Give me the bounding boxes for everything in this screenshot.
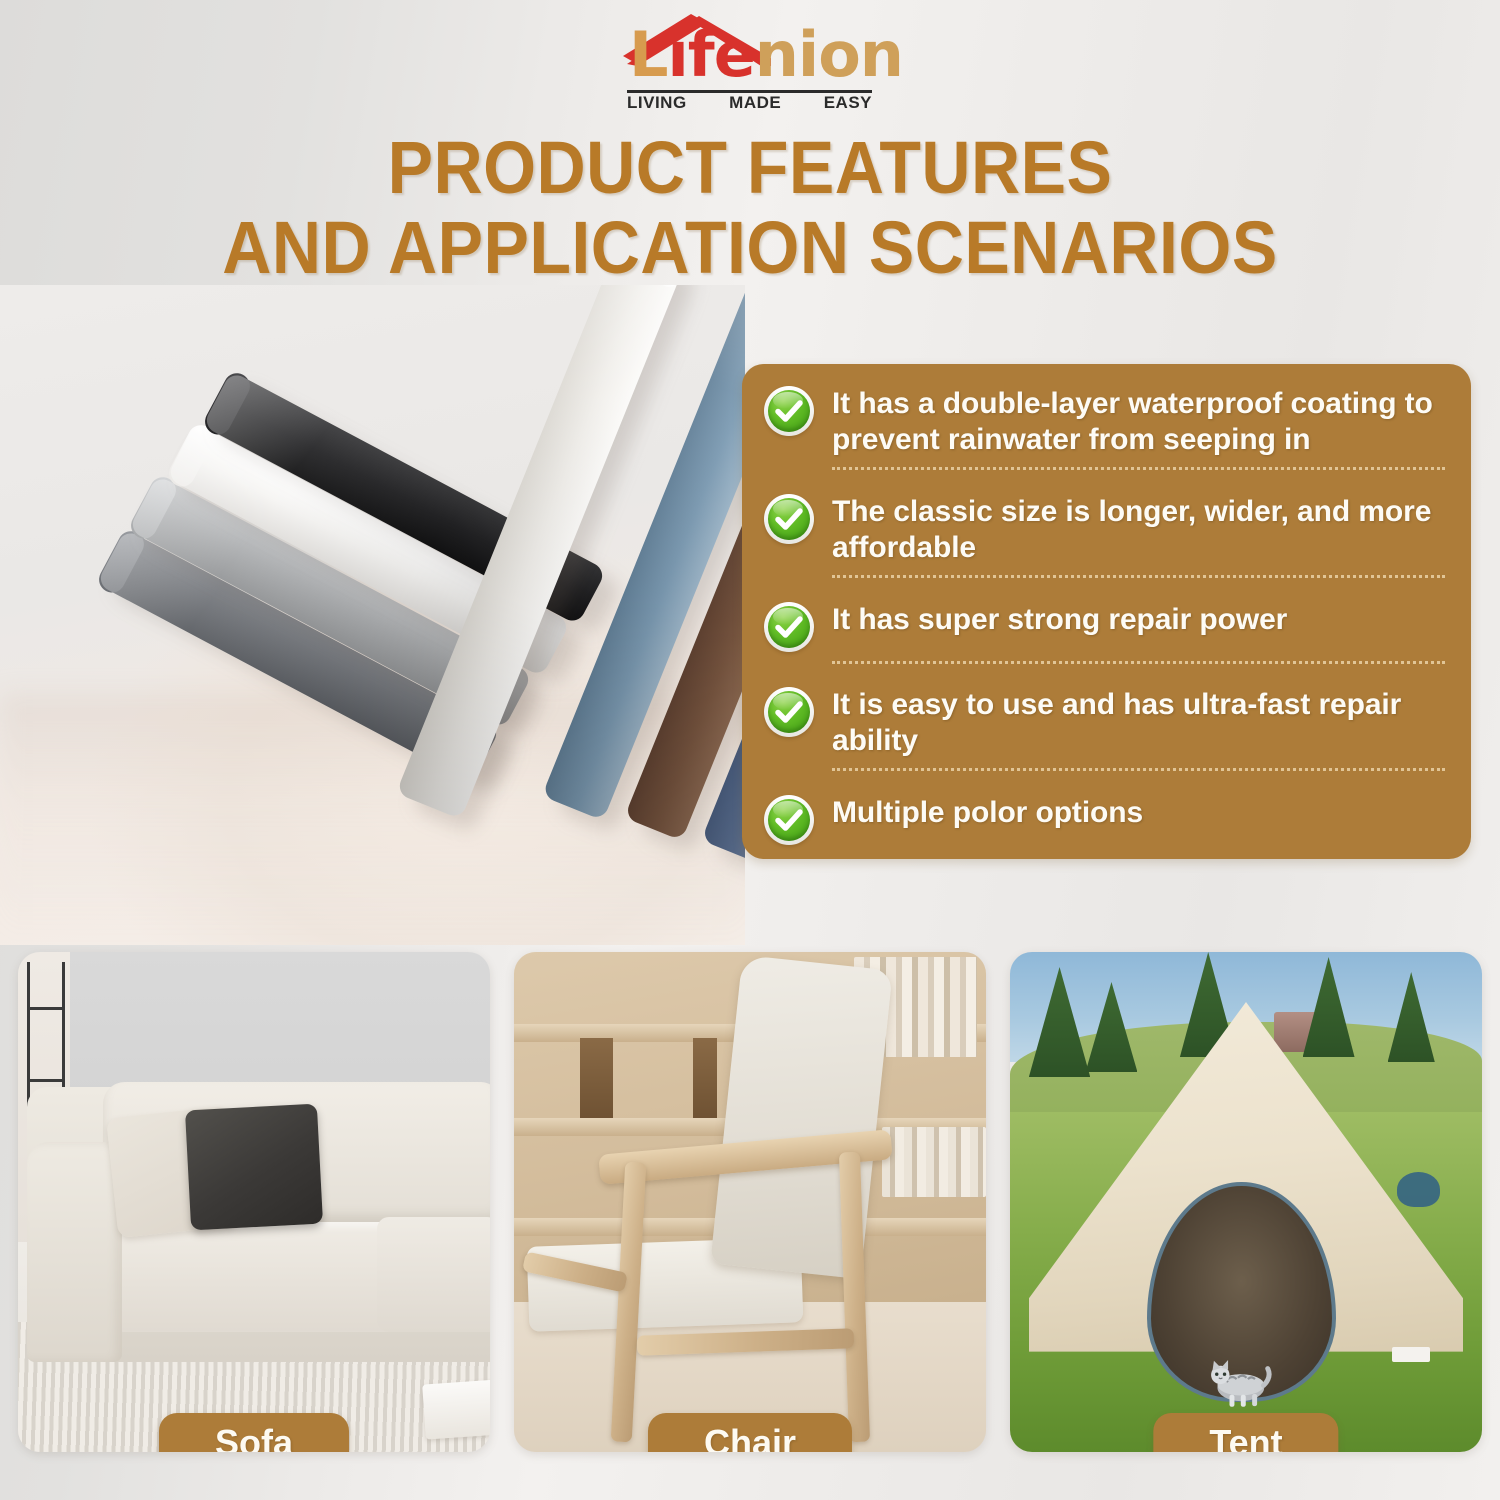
scenario-card-tent: Tent	[1010, 952, 1482, 1452]
sofa-armrest	[27, 1142, 121, 1362]
dark-pillow	[185, 1104, 323, 1231]
page-title-line-1: PRODUCT FEATURES	[60, 128, 1440, 208]
tent-photo	[1010, 952, 1482, 1452]
brand-logo: Lifenion LIVING MADE EASY	[0, 6, 1500, 106]
tagline-word-easy: EASY	[824, 93, 872, 113]
sofa-photo	[18, 952, 490, 1452]
feature-text: Multiple polor options	[832, 793, 1143, 831]
logo-mark: Lifenion LIVING MADE EASY	[615, 6, 885, 106]
cat	[1204, 1352, 1275, 1412]
tent-label-patch	[1392, 1347, 1430, 1362]
page-title: PRODUCT FEATURES AND APPLICATION SCENARI…	[60, 128, 1440, 288]
logo-letters-nion: nion	[755, 18, 903, 91]
scenario-card-chair: Chair	[514, 952, 986, 1452]
feature-separator	[832, 575, 1445, 578]
scenario-card-sofa: Sofa	[18, 952, 490, 1452]
feature-text: It has a double-layer waterproof coating…	[832, 384, 1445, 458]
tagline-word-living: LIVING	[627, 93, 687, 113]
check-icon	[764, 386, 814, 436]
logo-tagline: LIVING MADE EASY	[627, 93, 872, 113]
feature-item: It is easy to use and has ultra-fast rep…	[764, 679, 1445, 759]
feature-text: It is easy to use and has ultra-fast rep…	[832, 685, 1445, 759]
feature-item: The classic size is longer, wider, and m…	[764, 486, 1445, 566]
product-photo	[0, 285, 745, 945]
check-icon	[764, 602, 814, 652]
books-lower	[882, 1127, 986, 1197]
feature-item: It has super strong repair power	[764, 594, 1445, 652]
scenario-label-tent: Tent	[1153, 1413, 1338, 1452]
magazines	[422, 1379, 490, 1439]
chair-photo	[514, 952, 986, 1452]
feature-item: It has a double-layer waterproof coating…	[764, 378, 1445, 458]
scenario-cards: Sofa Chair	[18, 952, 1482, 1452]
scenario-label-chair: Chair	[648, 1413, 852, 1452]
features-panel: It has a double-layer waterproof coating…	[742, 364, 1471, 859]
logo-letter-L: L	[629, 18, 668, 91]
feature-separator	[832, 661, 1445, 664]
feature-text: The classic size is longer, wider, and m…	[832, 492, 1445, 566]
check-icon	[764, 795, 814, 845]
feature-separator	[832, 467, 1445, 470]
logo-letters-ife: ife	[668, 18, 755, 91]
feature-text: It has super strong repair power	[832, 600, 1287, 638]
check-icon	[764, 494, 814, 544]
scenario-label-sofa: Sofa	[159, 1413, 349, 1452]
logo-wordmark: Lifenion	[629, 24, 903, 86]
feature-item: Multiple polor options	[764, 787, 1445, 845]
tagline-word-made: MADE	[729, 93, 781, 113]
feature-separator	[832, 768, 1445, 771]
page-title-line-2: AND APPLICATION SCENARIOS	[60, 208, 1440, 288]
sofa-seat-cushion-right	[377, 1217, 490, 1332]
tent-brand-logo	[1397, 1172, 1439, 1207]
check-icon	[764, 687, 814, 737]
